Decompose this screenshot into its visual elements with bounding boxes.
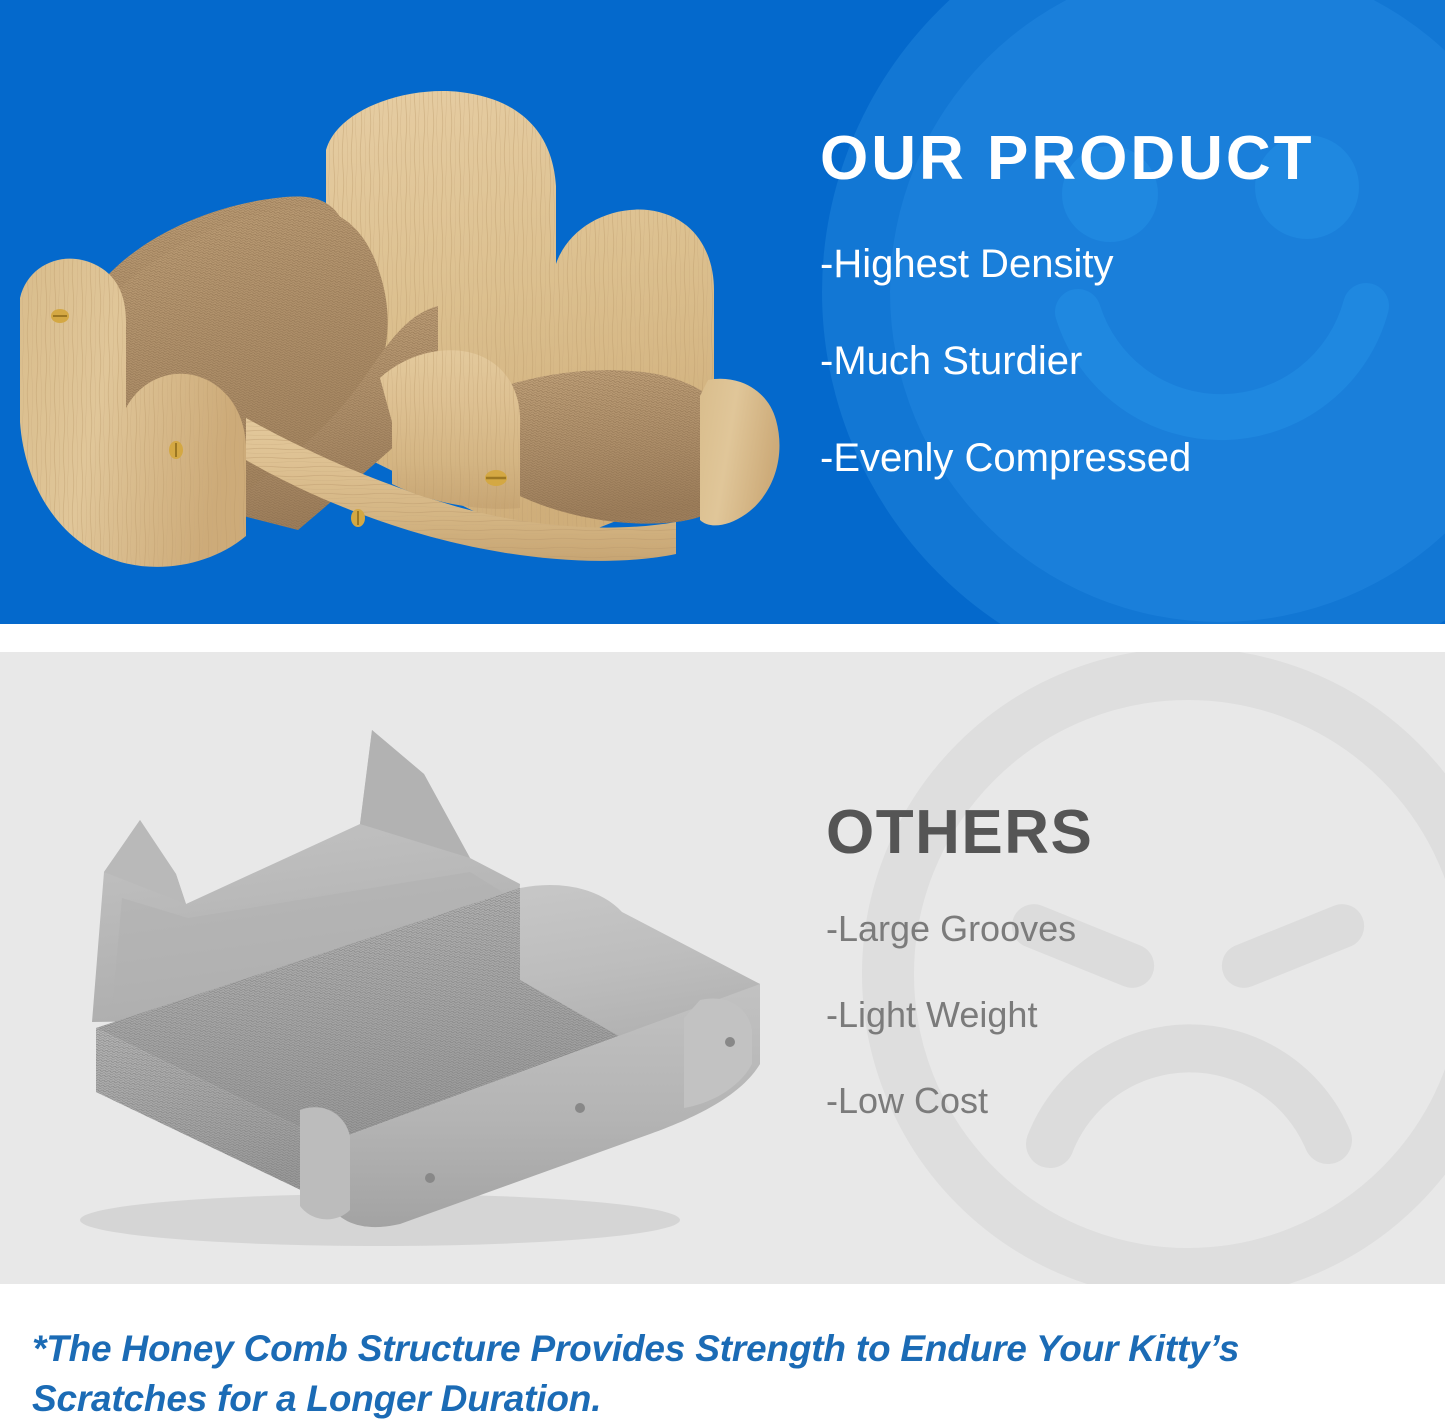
our-product-bullet-3: -Evenly Compressed — [820, 436, 1420, 481]
others-bullet-1: -Large Grooves — [826, 908, 1426, 950]
our-product-text-block: OUR PRODUCT -Highest Density -Much Sturd… — [820, 128, 1420, 481]
others-photo-gray-scratcher — [0, 712, 800, 1257]
others-bullet-3: -Low Cost — [826, 1080, 1426, 1122]
our-product-panel: OUR PRODUCT -Highest Density -Much Sturd… — [0, 0, 1445, 624]
honeycomb-note: *The Honey Comb Structure Provides Stren… — [32, 1324, 1402, 1423]
others-heading: OTHERS — [826, 802, 1426, 864]
our-product-bullet-1: -Highest Density — [820, 242, 1420, 287]
our-product-heading: OUR PRODUCT — [820, 128, 1420, 190]
our-product-bullet-list: -Highest Density -Much Sturdier -Evenly … — [820, 242, 1420, 481]
product-comparison-infographic: OUR PRODUCT -Highest Density -Much Sturd… — [0, 0, 1445, 1423]
others-bullet-list: -Large Grooves -Light Weight -Low Cost — [826, 908, 1426, 1122]
others-panel: OTHERS -Large Grooves -Light Weight -Low… — [0, 652, 1445, 1284]
footer-note-area: *The Honey Comb Structure Provides Stren… — [0, 1284, 1445, 1423]
others-bullet-2: -Light Weight — [826, 994, 1426, 1036]
others-text-block: OTHERS -Large Grooves -Light Weight -Low… — [826, 802, 1426, 1122]
product-photo-wooden-scratcher — [8, 78, 808, 578]
our-product-bullet-2: -Much Sturdier — [820, 339, 1420, 384]
